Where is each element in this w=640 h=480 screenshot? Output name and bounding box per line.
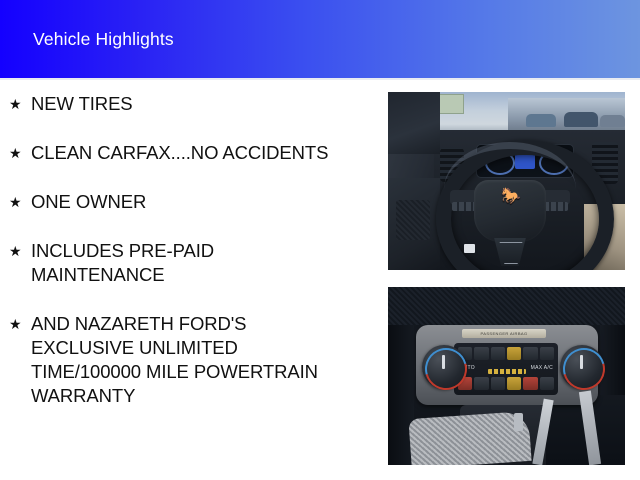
max-ac-label: MAX A/C	[531, 365, 553, 371]
list-item: ★ AND NAZARETH FORD'S EXCLUSIVE UNLIMITE…	[0, 312, 372, 408]
header-divider	[0, 78, 640, 80]
list-item: ★ ONE OWNER	[0, 190, 372, 214]
list-item-label: NEW TIRES	[31, 92, 372, 116]
list-item: ★ CLEAN CARFAX....NO ACCIDENTS	[0, 141, 372, 165]
ac-button	[540, 347, 554, 360]
list-item: ★ INCLUDES PRE-PAID MAINTENANCE	[0, 239, 372, 287]
list-item: ★ NEW TIRES	[0, 92, 372, 116]
heated-seat-right-button	[523, 377, 537, 390]
temperature-knob-passenger	[560, 345, 604, 389]
temperature-knob-driver	[422, 345, 466, 389]
climate-button-row-top	[458, 347, 554, 360]
fan-speed-indicator	[488, 369, 526, 374]
lot-vehicle	[526, 114, 556, 127]
door-speaker-icon	[396, 200, 430, 240]
climate-button-panel: AUTO MAX A/C	[454, 343, 558, 395]
bronco-horse-emblem-icon: 🐎	[496, 188, 526, 206]
airflow-feet-button	[507, 347, 521, 360]
defrost-front-button	[474, 347, 488, 360]
fan-up-button	[491, 377, 505, 390]
steering-buttons-right	[544, 202, 568, 211]
fan-down-button	[474, 377, 488, 390]
page-title: Vehicle Highlights	[33, 29, 174, 50]
star-icon: ★	[9, 93, 21, 115]
passenger-airbag-indicator: PASSENGER AIRBAG	[462, 329, 546, 338]
list-item-label: AND NAZARETH FORD'S EXCLUSIVE UNLIMITED …	[31, 312, 372, 408]
highlights-list: ★ NEW TIRES ★ CLEAN CARFAX....NO ACCIDEN…	[0, 92, 372, 408]
star-icon: ★	[9, 240, 21, 262]
sync-button	[507, 377, 521, 390]
seatbelt-buckle	[514, 413, 523, 431]
knob-pointer	[580, 355, 583, 369]
dash-tag	[464, 244, 475, 253]
photo-interior-steering-wheel[interactable]: 🐎	[388, 92, 625, 270]
star-icon: ★	[9, 313, 21, 335]
vehicle-highlights-page: Vehicle Highlights ★ NEW TIRES ★ CLEAN C…	[0, 0, 640, 480]
list-item-label: ONE OWNER	[31, 190, 372, 214]
lot-vehicle	[600, 115, 625, 127]
list-item-label: CLEAN CARFAX....NO ACCIDENTS	[31, 141, 372, 165]
star-icon: ★	[9, 191, 21, 213]
page-header: Vehicle Highlights	[0, 0, 640, 78]
airflow-face-button	[491, 347, 505, 360]
recirculate-button	[523, 347, 537, 360]
star-icon: ★	[9, 142, 21, 164]
photo-interior-climate-controls[interactable]: PASSENGER AIRBAG AUTO MAX A/C	[388, 287, 625, 465]
list-item-label: INCLUDES PRE-PAID MAINTENANCE	[31, 239, 372, 287]
climate-button-row-bottom	[458, 377, 554, 390]
photo-content: 🐎	[388, 92, 625, 270]
steering-buttons-left	[452, 202, 476, 211]
lot-vehicle	[564, 112, 598, 127]
photo-content: PASSENGER AIRBAG AUTO MAX A/C	[388, 287, 625, 465]
mirror-area	[388, 92, 440, 154]
dash-speaker-grille	[388, 287, 625, 325]
power-button	[540, 377, 554, 390]
knob-pointer	[442, 355, 445, 369]
